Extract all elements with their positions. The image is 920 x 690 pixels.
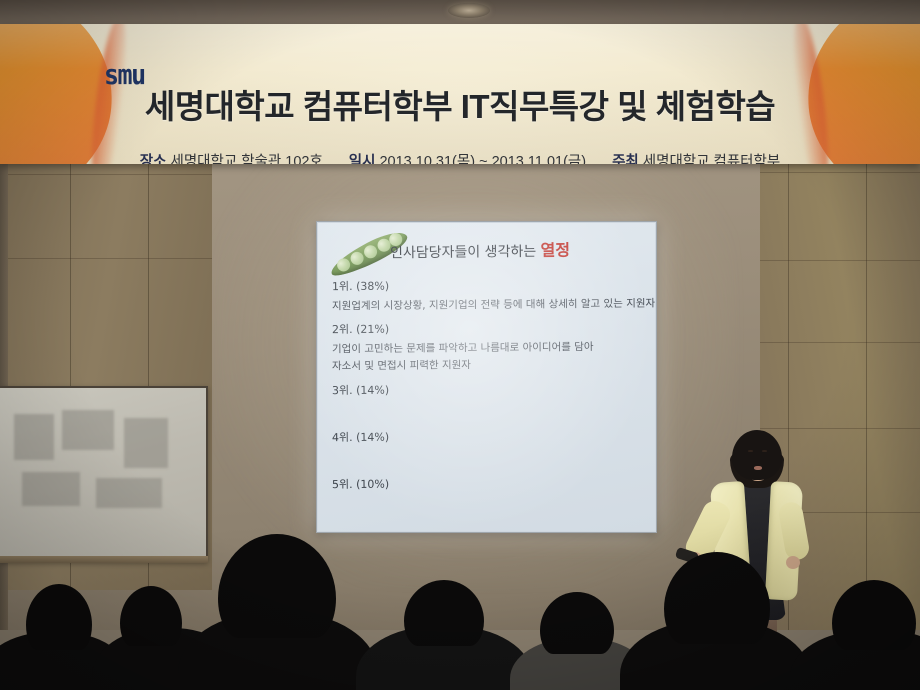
audience [0, 560, 920, 690]
audience-head [404, 580, 484, 646]
lecture-hall-photo: smu 세명대학교 컴퓨터학부 IT직무특강 및 체험학습 장소세명대학교 학술… [0, 0, 920, 690]
audience-head [540, 592, 614, 654]
slide-light-wash [318, 223, 655, 531]
slide: 인사담당자들이 생각하는 열정 1위. (38%) 지원업계의 시장상황, 지원… [318, 223, 655, 531]
presenter-hair [732, 430, 782, 480]
audience-head [832, 580, 916, 650]
banner-sheen [0, 24, 920, 164]
event-banner: smu 세명대학교 컴퓨터학부 IT직무특강 및 체험학습 장소세명대학교 학술… [0, 24, 920, 164]
audience-head [120, 586, 182, 646]
projection-screen: 인사담당자들이 생각하는 열정 1위. (38%) 지원업계의 시장상황, 지원… [316, 221, 657, 533]
audience-head [26, 584, 92, 650]
whiteboard [0, 386, 208, 562]
ceiling-light-icon [448, 3, 490, 18]
audience-head [664, 552, 770, 644]
